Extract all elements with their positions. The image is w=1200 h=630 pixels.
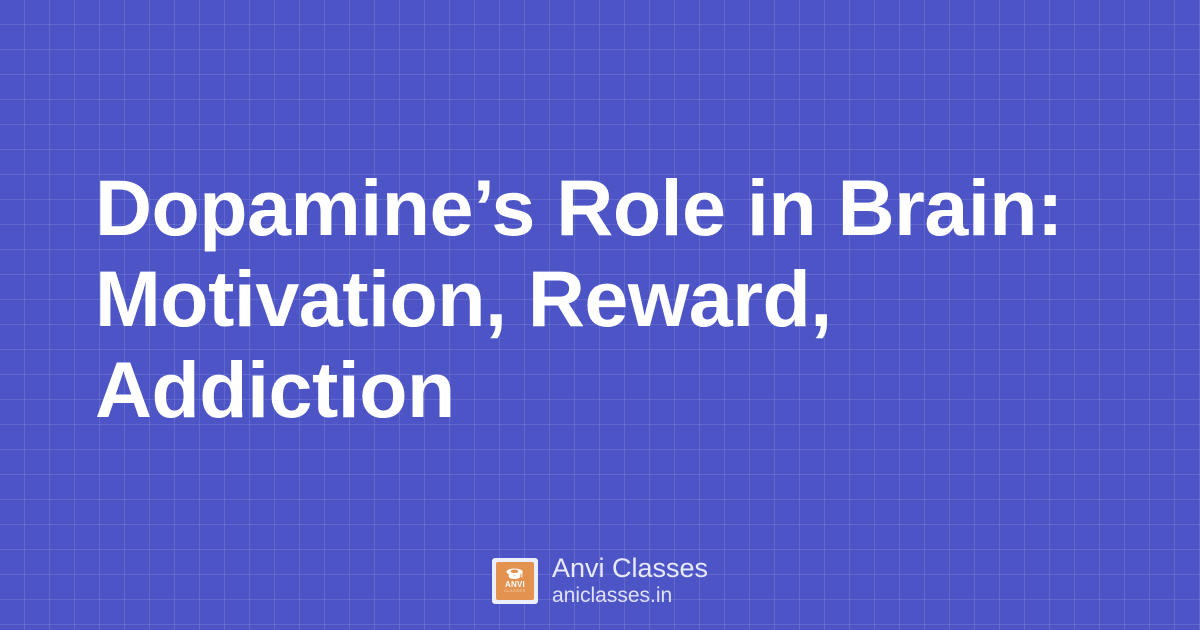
- logo-subtext: CLASSES: [504, 589, 525, 594]
- logo-wordmark: ANVI: [505, 581, 525, 589]
- brand-name: Anvi Classes: [552, 553, 708, 583]
- page-title: Dopamine’s Role in Brain: Motivation, Re…: [95, 162, 1105, 435]
- brand-lockup: ANVI CLASSES Anvi Classes aniclasses.in: [0, 553, 1200, 608]
- graduation-cap-icon: [505, 567, 524, 580]
- card-content: Dopamine’s Role in Brain: Motivation, Re…: [0, 0, 1200, 630]
- title-block: Dopamine’s Role in Brain: Motivation, Re…: [95, 162, 1105, 435]
- brand-logo: ANVI CLASSES: [492, 558, 538, 604]
- og-card: Dopamine’s Role in Brain: Motivation, Re…: [0, 0, 1200, 630]
- logo-tile: ANVI CLASSES: [496, 562, 534, 600]
- brand-text: Anvi Classes aniclasses.in: [552, 553, 708, 608]
- brand-url: aniclasses.in: [552, 583, 672, 608]
